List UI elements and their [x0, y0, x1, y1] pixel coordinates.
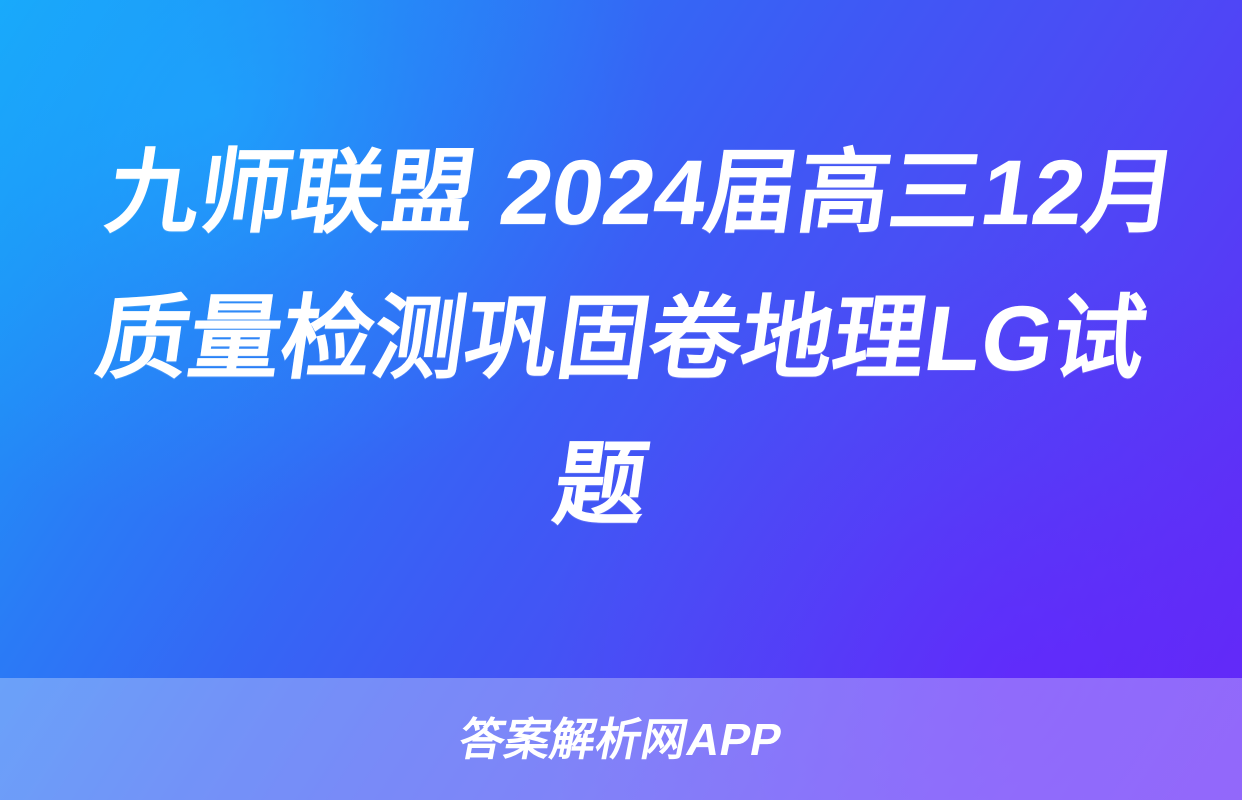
footer-watermark-band: 答案解析网APP — [0, 678, 1242, 800]
brand-watermark: 答案解析网APP — [456, 717, 786, 762]
page-title: 九师联盟 2024届高三12月质量检测巩固卷地理LG试题 — [28, 120, 1215, 558]
poster-title-area: 九师联盟 2024届高三12月质量检测巩固卷地理LG试题 — [0, 0, 1242, 678]
poster-canvas: 九师联盟 2024届高三12月质量检测巩固卷地理LG试题 答案解析网APP — [0, 0, 1242, 800]
